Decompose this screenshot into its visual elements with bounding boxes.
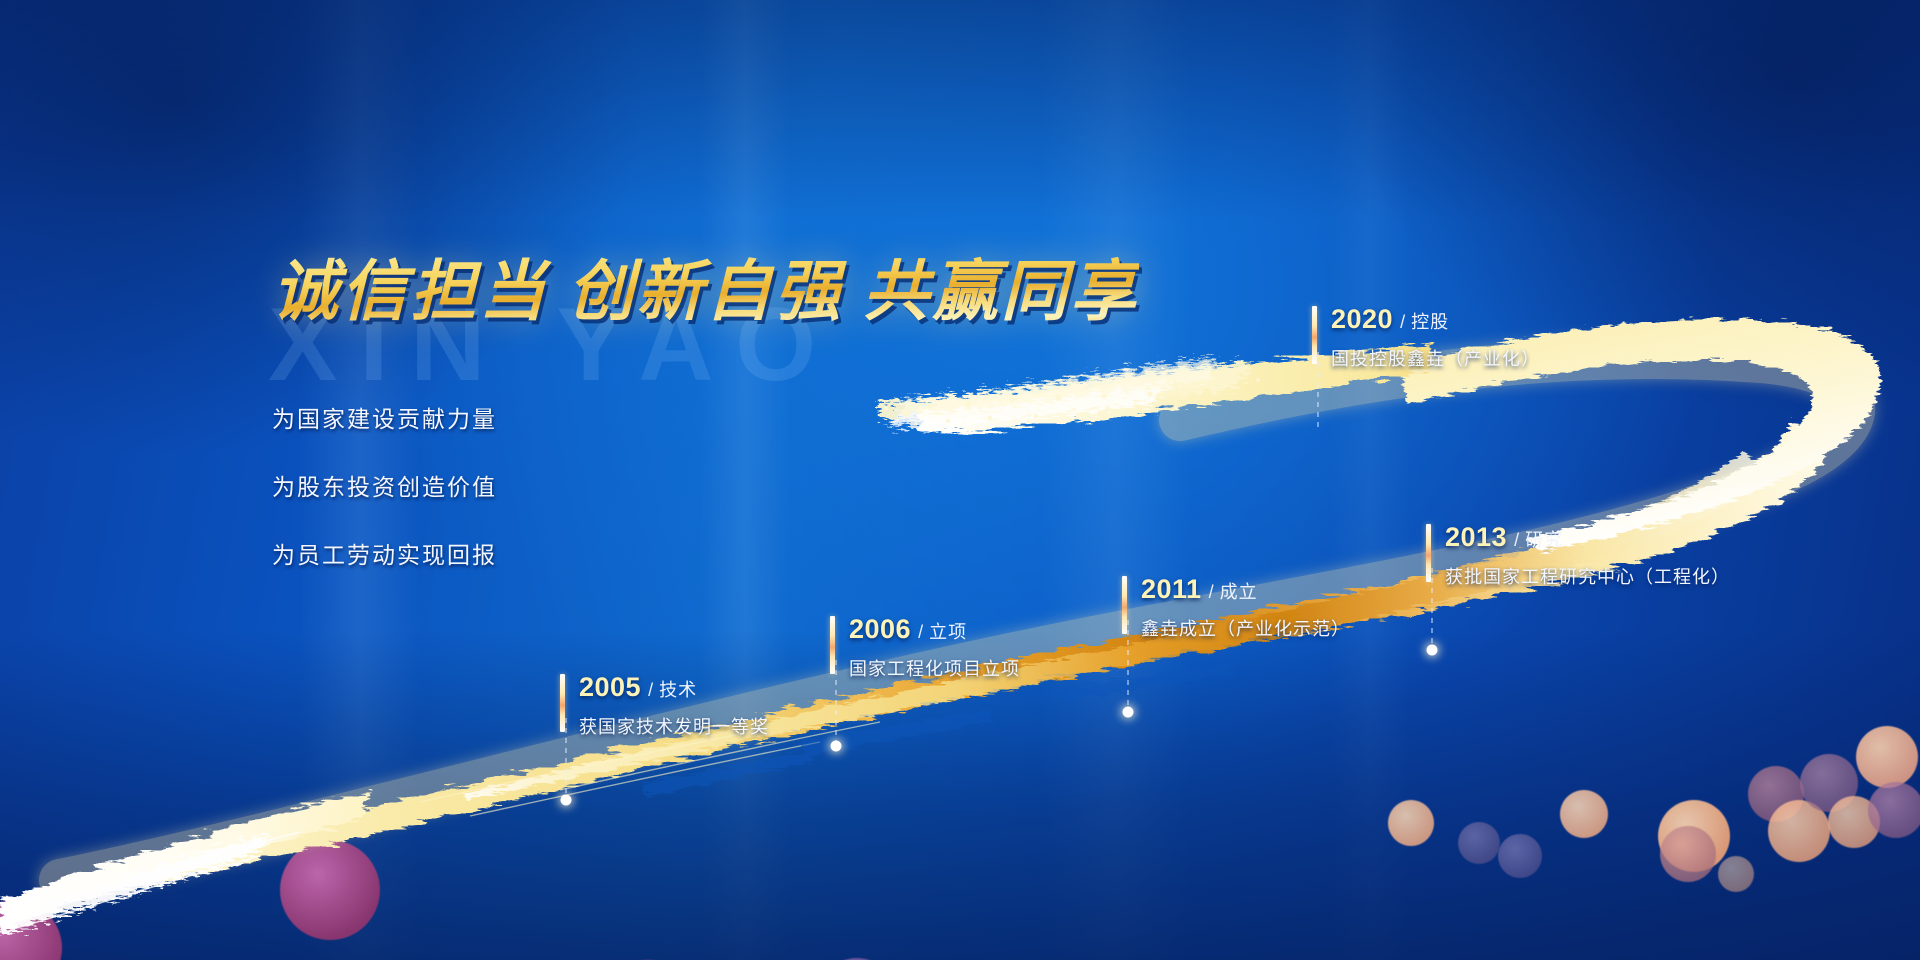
milestone-heading: 2006 / 立项 <box>849 614 1020 645</box>
bokeh-circle <box>1560 790 1608 838</box>
slogan-line-1: 为国家建设贡献力量 <box>272 400 1139 434</box>
slogan-line-3: 为员工劳动实现回报 <box>272 536 1139 570</box>
milestone-year: 2013 <box>1445 522 1507 553</box>
milestone-accent-bar <box>560 674 565 732</box>
bokeh-circle <box>1498 834 1542 878</box>
milestone-separator: / <box>648 680 653 701</box>
milestone-year: 2006 <box>849 614 911 645</box>
bokeh-circle <box>280 840 380 940</box>
bokeh-circle <box>1856 726 1918 788</box>
slogan-line-2: 为股东投资创造价值 <box>272 468 1139 502</box>
milestone-description: 鑫垚成立（产业化示范） <box>1141 615 1350 641</box>
milestone-accent-bar <box>1312 306 1317 364</box>
bokeh-circle <box>0 900 62 960</box>
timeline-dot-2013 <box>1427 645 1438 656</box>
milestone-description: 获国家技术发明一等奖 <box>579 713 769 739</box>
milestone-2011[interactable]: 2011 / 成立 鑫垚成立（产业化示范） <box>1122 574 1350 641</box>
milestone-year: 2005 <box>579 672 641 703</box>
milestone-accent-bar <box>830 616 835 674</box>
brush-strands <box>10 832 300 930</box>
bokeh-circle <box>1388 800 1434 846</box>
bokeh-circle <box>1800 754 1858 812</box>
bokeh-circle <box>1660 826 1716 882</box>
milestone-tag: 立项 <box>929 618 967 644</box>
milestone-heading: 2013 / 研究 <box>1445 522 1730 553</box>
milestone-accent-bar <box>1122 576 1127 634</box>
milestone-tag: 技术 <box>659 676 697 702</box>
milestone-accent-bar <box>1426 524 1431 582</box>
milestone-separator: / <box>1209 582 1214 603</box>
timeline-dot-2006 <box>831 741 842 752</box>
milestone-tag: 成立 <box>1220 578 1258 604</box>
milestone-heading: 2011 / 成立 <box>1141 574 1350 605</box>
milestone-heading: 2020 / 控股 <box>1331 304 1540 335</box>
bokeh-circle <box>1748 766 1804 822</box>
bokeh-circle <box>1658 800 1730 872</box>
bokeh-circle <box>1768 800 1830 862</box>
top-vignette <box>0 0 1920 220</box>
milestone-separator: / <box>1400 312 1405 333</box>
milestone-2013[interactable]: 2013 / 研究 获批国家工程研究中心（工程化） <box>1426 522 1730 589</box>
milestone-description: 国家工程化项目立项 <box>849 655 1020 681</box>
milestone-year: 2020 <box>1331 304 1393 335</box>
milestone-heading: 2005 / 技术 <box>579 672 769 703</box>
timeline-dot-2005 <box>561 795 572 806</box>
slogan-block: 诚信担当 创新自强 共赢同享 为国家建设贡献力量 为股东投资创造价值 为员工劳动… <box>272 238 1139 570</box>
milestone-description: 获批国家工程研究中心（工程化） <box>1445 563 1730 589</box>
page-title: 诚信担当 创新自强 共赢同享 <box>272 238 1139 334</box>
milestone-separator: / <box>1514 530 1519 551</box>
bokeh-circle <box>1458 822 1500 864</box>
bokeh-circle <box>1718 856 1754 892</box>
milestone-2006[interactable]: 2006 / 立项 国家工程化项目立项 <box>830 614 1020 681</box>
milestone-2020[interactable]: 2020 / 控股 国投控股鑫垚（产业化） <box>1312 304 1540 371</box>
timeline-dot-2011 <box>1123 707 1134 718</box>
milestone-2005[interactable]: 2005 / 技术 获国家技术发明一等奖 <box>560 672 769 739</box>
milestone-tag: 控股 <box>1411 308 1449 334</box>
milestone-year: 2011 <box>1141 574 1202 605</box>
milestone-tag: 研究 <box>1525 526 1563 552</box>
bokeh-circle <box>1828 796 1880 848</box>
light-streak <box>1330 0 1410 960</box>
bokeh-circle <box>1868 782 1920 838</box>
milestone-separator: / <box>918 622 923 643</box>
company-culture-banner: XIN YAO 诚信担当 创新自强 共赢同享 为国家建设贡献力量 为股东投资创造… <box>0 0 1920 960</box>
milestone-description: 国投控股鑫垚（产业化） <box>1331 345 1540 371</box>
